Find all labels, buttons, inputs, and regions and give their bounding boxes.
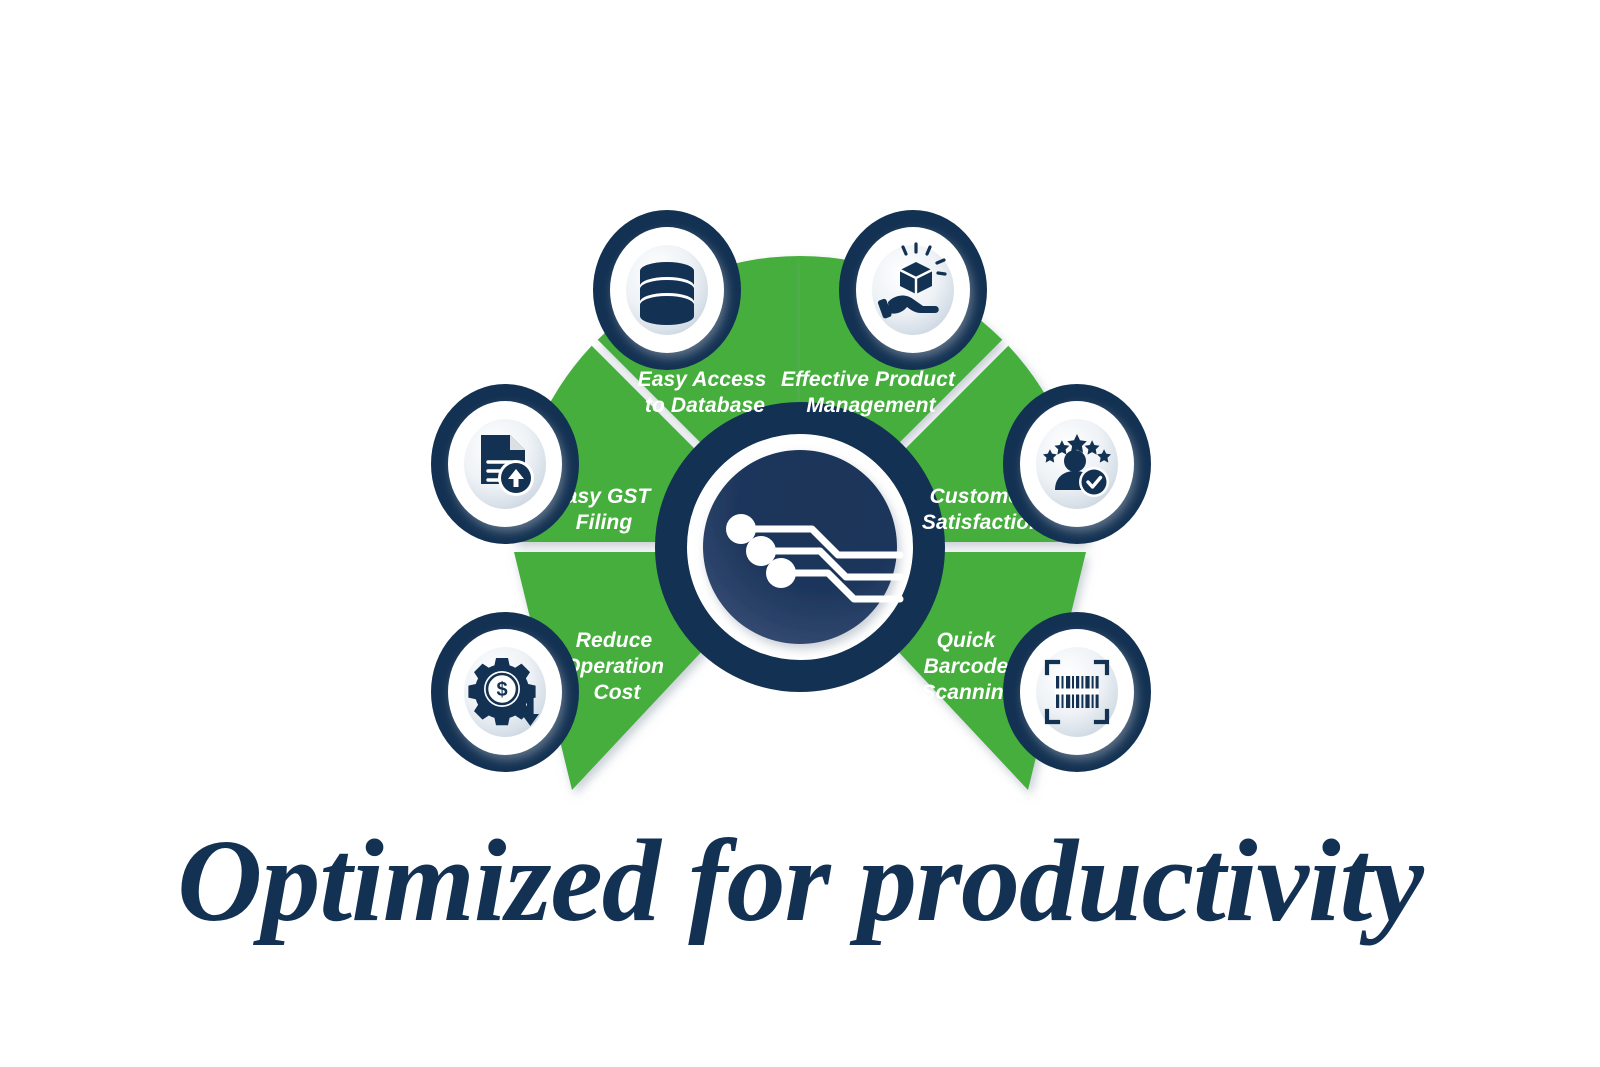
database-icon (640, 262, 694, 325)
infographic-stage: Easy Access to Database Effective Produc… (0, 0, 1600, 1067)
center-hub[interactable] (672, 419, 928, 675)
badge-easy-access-to-database[interactable] (602, 219, 732, 361)
radial-wheel-diagram: Easy Access to Database Effective Produc… (0, 0, 1600, 1067)
page-title: Optimized for productivity (177, 815, 1424, 946)
badge-effective-product-management[interactable] (848, 219, 978, 361)
hub-disc (703, 450, 897, 644)
badge-easy-gst-filing[interactable] (440, 393, 570, 535)
circuit-node-3 (766, 558, 796, 588)
badge-customer-satisfaction[interactable] (1012, 393, 1142, 535)
svg-text:$: $ (496, 679, 507, 701)
badge-reduce-operation-cost[interactable]: $ (440, 621, 570, 763)
badge-quick-barcode-scanning[interactable] (1012, 621, 1142, 763)
